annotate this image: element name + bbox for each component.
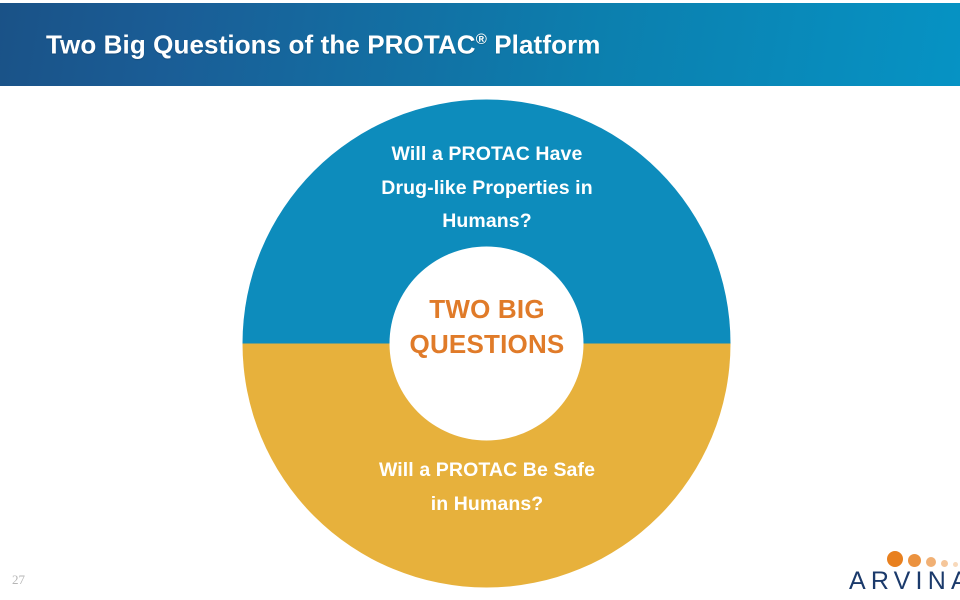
- donut-center-label: TWO BIG QUESTIONS: [390, 292, 584, 362]
- logo-wordmark: ARVINAS: [849, 567, 960, 596]
- page-number: 27: [12, 572, 25, 588]
- arvinas-logo: ARVINAS: [849, 550, 960, 594]
- logo-dots-icon: [887, 550, 959, 568]
- slide-header-bar: Two Big Questions of the PROTAC® Platfor…: [0, 3, 960, 86]
- logo-dot-3: [926, 557, 936, 567]
- registered-trademark-icon: ®: [476, 30, 487, 47]
- bottom-segment-label: Will a PROTAC Be Safe in Humans?: [330, 454, 644, 521]
- page-title: Two Big Questions of the PROTAC® Platfor…: [46, 29, 601, 60]
- page-title-text-tail: Platform: [487, 29, 601, 59]
- logo-dot-2: [908, 554, 921, 567]
- logo-dot-4: [941, 560, 948, 567]
- top-segment-label: Will a PROTAC Have Drug-like Properties …: [330, 138, 644, 239]
- logo-dot-1: [887, 551, 903, 567]
- two-big-questions-donut-diagram: Will a PROTAC Have Drug-like Properties …: [242, 99, 731, 588]
- page-title-text-main: Two Big Questions of the PROTAC: [46, 29, 476, 59]
- slide-canvas: Two Big Questions of the PROTAC® Platfor…: [0, 0, 960, 600]
